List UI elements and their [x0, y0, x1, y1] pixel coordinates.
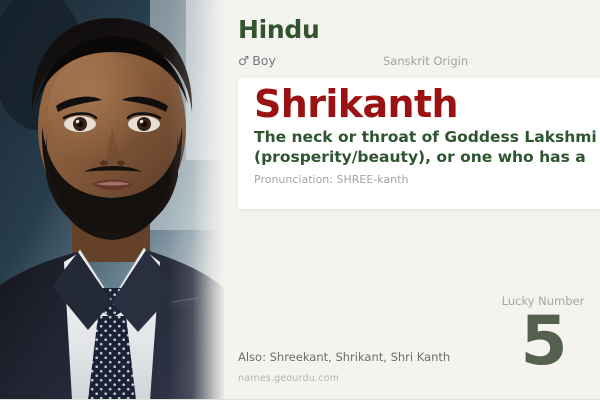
name-card-graphic: Hindu ♂Boy Sanskrit Origin Shrikanth The… [0, 0, 600, 400]
lucky-number-block: Lucky Number 5 [468, 296, 600, 374]
name-meaning: The neck or throat of Goddess Lakshmi (p… [254, 127, 600, 167]
lucky-number-value: 5 [468, 310, 600, 375]
male-gender-icon: ♂ [238, 53, 249, 68]
portrait-photo-illustration [0, 0, 224, 400]
meta-row: ♂Boy Sanskrit Origin [238, 53, 578, 71]
name-highlight-card: Shrikanth The neck or throat of Goddess … [238, 78, 600, 209]
gender-label-wrapper: ♂Boy [238, 53, 276, 68]
name-title: Shrikanth [254, 83, 458, 126]
religion-label: Hindu [238, 17, 319, 42]
source-attribution: names.geourdu.com [238, 373, 339, 384]
info-panel: Hindu ♂Boy Sanskrit Origin Shrikanth The… [224, 0, 600, 400]
name-pronunciation: Pronunciation: SHREE-kanth [254, 173, 408, 186]
portrait-photo [0, 0, 224, 400]
alternate-spellings: Also: Shreekant, Shrikant, Shri Kanth [238, 350, 450, 364]
origin-label: Sanskrit Origin [383, 54, 468, 68]
gender-label: Boy [252, 53, 276, 68]
